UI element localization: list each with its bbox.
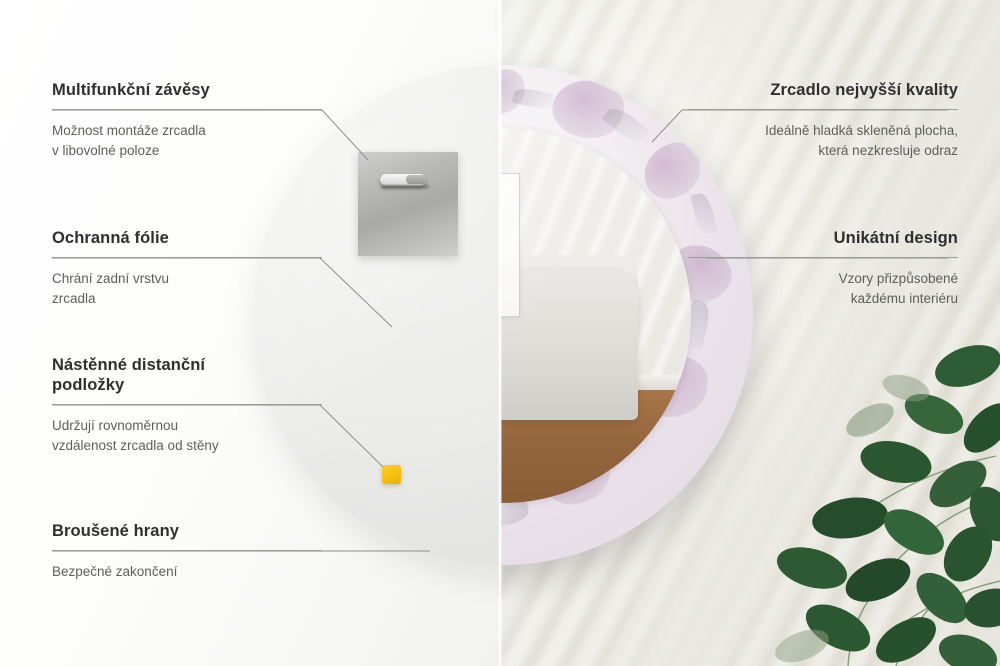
feature-callout-mirror-quality: Zrcadlo nejvyšší kvality Ideálně hladká … bbox=[688, 80, 958, 160]
feature-description: Možnost montáže zrcadla v libovolné polo… bbox=[52, 121, 322, 160]
feature-title: Broušené hrany bbox=[52, 521, 322, 541]
feature-callout-ground-edges: Broušené hrany Bezpečné zakončení bbox=[52, 521, 322, 582]
hanger-detail-icon bbox=[358, 152, 458, 256]
feature-description: Vzory přizpůsobené každému interiéru bbox=[688, 269, 958, 308]
mirror-glass-surface bbox=[500, 128, 691, 503]
feature-description: Bezpečné zakončení bbox=[52, 562, 322, 581]
feature-description: Chrání zadní vrstvu zrcadla bbox=[52, 269, 322, 308]
feature-title: Unikátní design bbox=[688, 228, 958, 248]
hanger-slot-inner bbox=[406, 175, 426, 184]
reflection-framed-artwork bbox=[500, 173, 520, 318]
feature-description: Udržují rovnoměrnou vzdálenost zrcadla o… bbox=[52, 416, 322, 455]
feature-rule bbox=[52, 550, 322, 551]
feature-rule bbox=[688, 109, 958, 110]
feature-callout-hangers: Multifunkční závěsy Možnost montáže zrca… bbox=[52, 80, 322, 160]
hanger-slot-shadow bbox=[381, 185, 429, 189]
feature-rule bbox=[52, 109, 322, 110]
feature-title: Ochranná fólie bbox=[52, 228, 322, 248]
feature-description: Ideálně hladká skleněná plocha, která ne… bbox=[688, 121, 958, 160]
wall-spacer-icon bbox=[382, 465, 401, 484]
feature-callout-unique-design: Unikátní design Vzory přizpůsobené každé… bbox=[688, 228, 958, 308]
infographic-canvas: Multifunkční závěsy Možnost montáže zrca… bbox=[0, 0, 1000, 666]
feature-callout-wall-spacers: Nástěnné distanční podložky Udržují rovn… bbox=[52, 355, 322, 455]
feature-rule bbox=[52, 257, 322, 258]
feature-rule bbox=[52, 404, 322, 405]
feature-title: Zrcadlo nejvyšší kvality bbox=[688, 80, 958, 100]
feature-title: Multifunkční závěsy bbox=[52, 80, 322, 100]
feature-rule bbox=[688, 257, 958, 258]
line-art-face-icon bbox=[500, 174, 519, 317]
feature-callout-protective-film: Ochranná fólie Chrání zadní vrstvu zrcad… bbox=[52, 228, 322, 308]
reflection-sofa-seat bbox=[500, 270, 638, 420]
feature-title: Nástěnné distanční podložky bbox=[52, 355, 322, 395]
